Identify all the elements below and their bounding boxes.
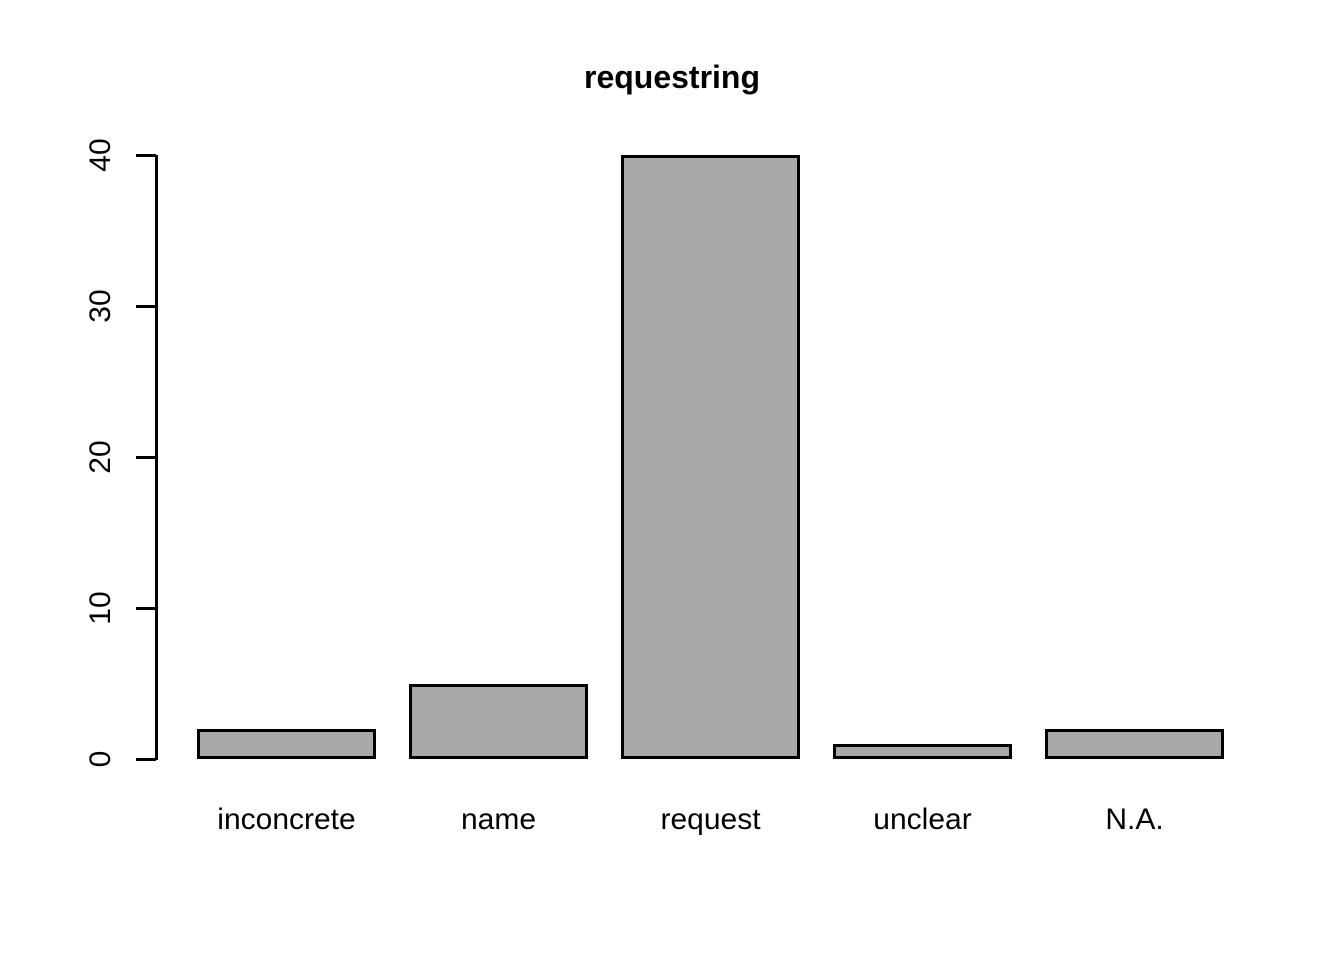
y-tick-label: 30 — [86, 289, 116, 322]
bar — [197, 729, 376, 759]
y-tick-mark — [136, 758, 156, 761]
bar — [409, 684, 588, 760]
y-tick-mark — [136, 305, 156, 308]
y-tick-label: 20 — [86, 440, 116, 473]
y-tick-label: 10 — [86, 591, 116, 624]
x-axis-label: unclear — [873, 803, 971, 837]
plot-area: 010203040 inconcretenamerequestunclearN.… — [0, 0, 1344, 960]
y-tick-mark — [136, 607, 156, 610]
y-tick-mark — [136, 456, 156, 459]
y-tick-label: 40 — [86, 138, 116, 171]
x-axis-label: name — [461, 803, 536, 837]
x-axis-label: request — [660, 803, 760, 837]
bar — [621, 155, 800, 759]
bar — [833, 744, 1012, 759]
y-tick-mark — [136, 154, 156, 157]
x-axis-label: N.A. — [1105, 803, 1163, 837]
bar — [1045, 729, 1224, 759]
barplot-figure: requestring 010203040 inconcretenamerequ… — [0, 0, 1344, 960]
x-axis-label: inconcrete — [217, 803, 355, 837]
y-tick-label: 0 — [86, 751, 116, 768]
